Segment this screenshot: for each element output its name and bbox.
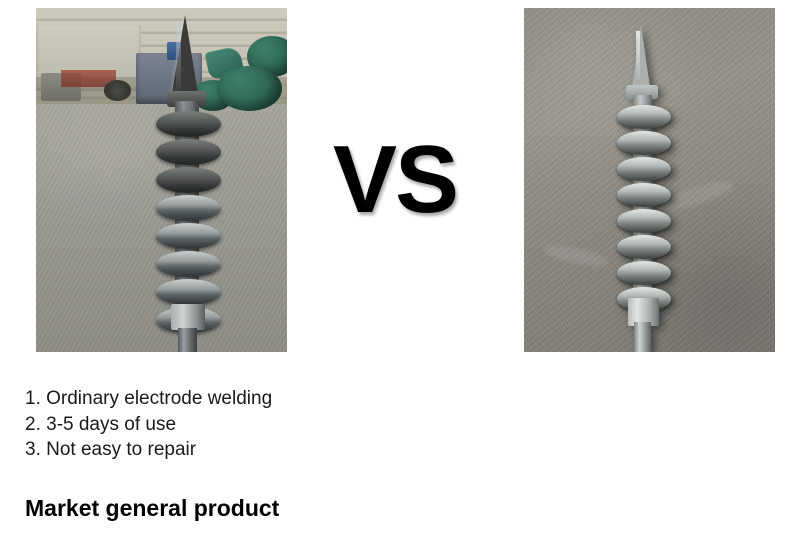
- list-item: 1. Ordinary electrode welding: [25, 386, 315, 412]
- shaft-base-sleeve: [171, 304, 205, 330]
- shaft-tip-highlight: [636, 31, 640, 85]
- shaft-stem: [634, 322, 651, 352]
- shaft-stem: [178, 328, 197, 352]
- shaft-tip-highlight: [176, 21, 181, 91]
- photo-machine-wheel: [104, 80, 132, 101]
- shaft-flight: [156, 111, 221, 137]
- product-photo-our-product: [524, 8, 775, 352]
- shaft-flight: [617, 183, 671, 207]
- screw-shaft-market-general: [154, 15, 224, 352]
- shaft-flight: [617, 157, 671, 181]
- shaft-flight: [617, 235, 671, 259]
- product-title-market-general: Market general product: [25, 495, 279, 522]
- shaft-flight: [156, 139, 221, 165]
- comparison-panel-right: 1. Alloy electrode welding 2. 7-10 days …: [490, 0, 790, 539]
- shaft-flight: [617, 261, 671, 285]
- shaft-flight: [617, 105, 671, 129]
- shaft-flight: [617, 209, 671, 233]
- product-photo-market-general: [36, 8, 287, 352]
- feature-list-market-general: 1. Ordinary electrode welding 2. 3-5 day…: [25, 386, 315, 463]
- list-item: 3. Not easy to repair: [25, 437, 315, 463]
- comparison-panel-left: 1. Ordinary electrode welding 2. 3-5 day…: [0, 0, 300, 539]
- shaft-flight: [617, 131, 671, 155]
- screw-shaft-our-product: [614, 25, 674, 352]
- shaft-flight: [156, 251, 221, 277]
- shaft-flight: [156, 195, 221, 221]
- photo-green-pump-casing-1: [217, 66, 282, 111]
- shaft-flight: [156, 167, 221, 193]
- shaft-flight: [156, 223, 221, 249]
- vs-label: VS: [300, 132, 490, 228]
- list-item: 2. 3-5 days of use: [25, 412, 315, 438]
- shaft-flight: [156, 279, 221, 305]
